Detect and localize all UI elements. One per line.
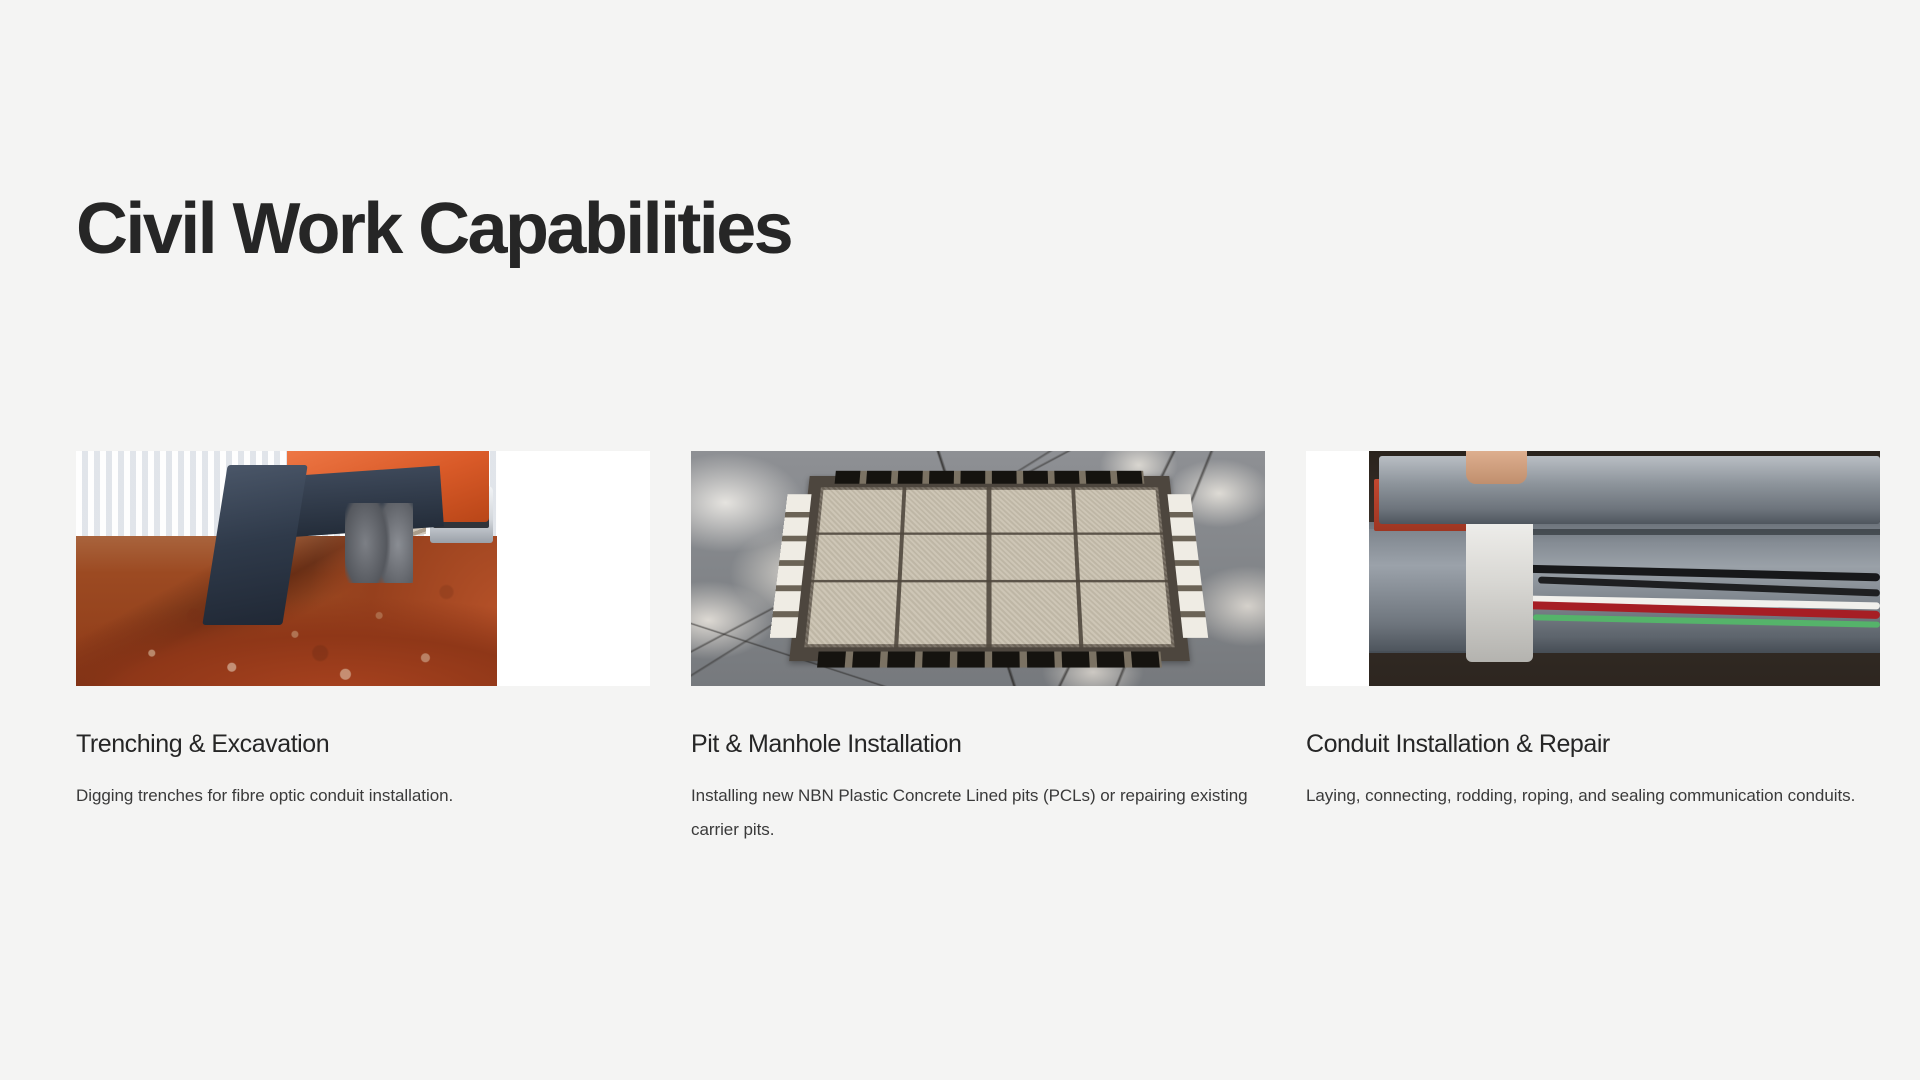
conduit-lid (1379, 456, 1880, 524)
trenching-photo (76, 451, 497, 686)
page-root: Civil Work Capabilities Trenching & Exca… (0, 0, 1920, 1080)
card-image-frame (1306, 451, 1880, 686)
card-title: Conduit Installation & Repair (1306, 729, 1880, 760)
card-image-clip (691, 451, 1265, 686)
trencher-boom-upper (255, 466, 444, 540)
card-description: Digging trenches for fibre optic conduit… (76, 779, 648, 813)
pit-lid-frame (789, 476, 1190, 661)
capability-card[interactable]: Trenching & Excavation Digging trenches … (76, 451, 650, 847)
card-image-clip (76, 451, 497, 686)
capability-card[interactable]: Pit & Manhole Installation Installing ne… (691, 451, 1265, 847)
conduit-photo (1369, 451, 1880, 686)
card-title: Trenching & Excavation (76, 729, 650, 760)
pit-photo (691, 451, 1265, 686)
pickup-truck (430, 486, 493, 542)
card-description: Laying, connecting, rodding, roping, and… (1306, 779, 1878, 813)
card-image-frame (76, 451, 650, 686)
card-image-frame (691, 451, 1265, 686)
page-title: Civil Work Capabilities (76, 190, 791, 268)
conduit-collar (1466, 517, 1532, 663)
hand (1466, 451, 1527, 484)
pallet-stack (375, 487, 426, 542)
skid-steer-body (287, 451, 489, 522)
card-description: Installing new NBN Plastic Concrete Line… (691, 779, 1263, 847)
card-title: Pit & Manhole Installation (691, 729, 1265, 760)
trencher-boom-arm (202, 465, 307, 625)
pit-lid-grid (804, 488, 1174, 648)
capability-card[interactable]: Conduit Installation & Repair Laying, co… (1306, 451, 1880, 847)
trencher-auger (345, 503, 412, 583)
card-image-clip (1369, 451, 1880, 686)
pit-slot-rail-top (835, 471, 1144, 484)
pit-slot-rail-bottom (817, 652, 1161, 668)
capability-card-grid: Trenching & Excavation Digging trenches … (76, 451, 1880, 847)
